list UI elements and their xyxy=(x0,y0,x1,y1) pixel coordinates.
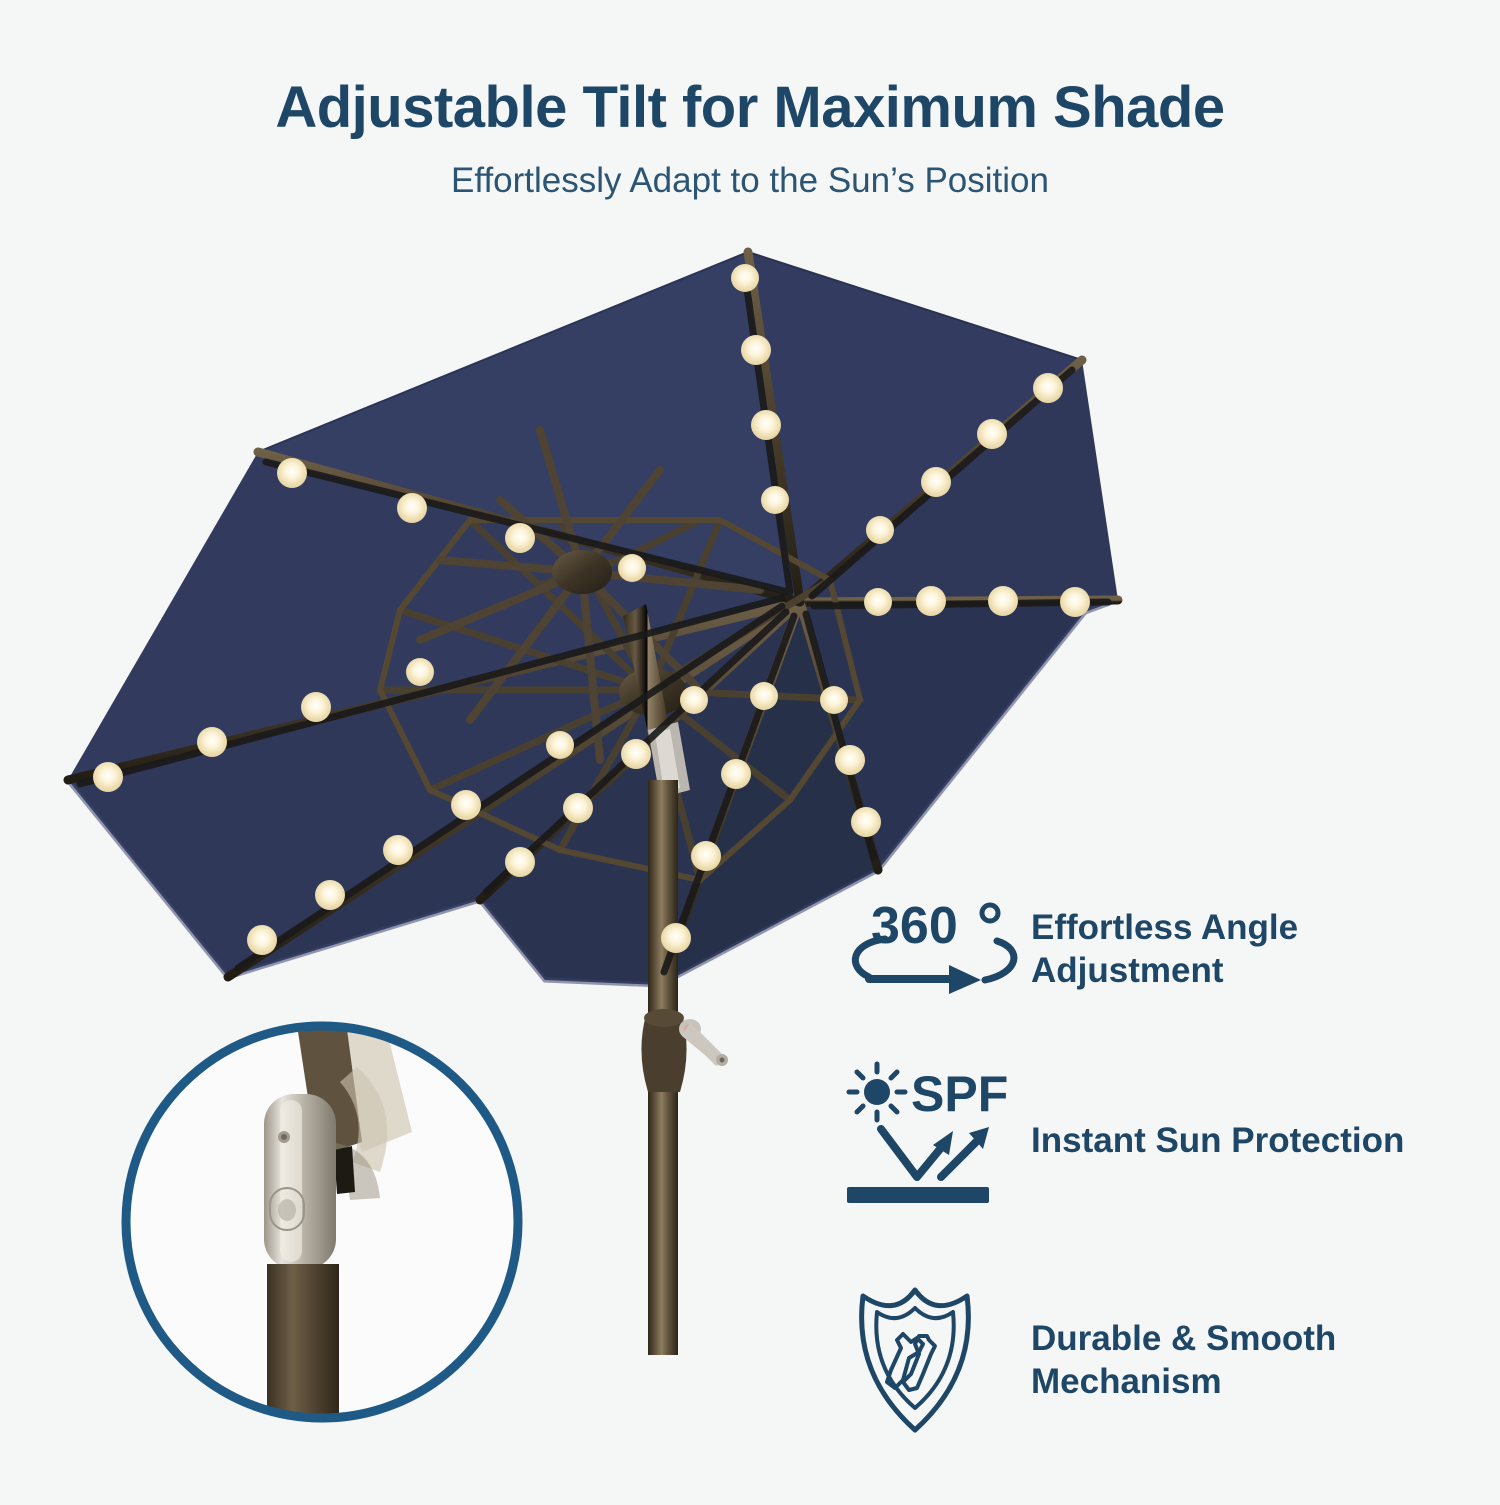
feature-item-durable-mechanism: Durable & Smooth Mechanism xyxy=(845,1273,1485,1448)
feature-label-angle-adjustment: Effortless Angle Adjustment xyxy=(1025,907,1298,992)
feature-label-durable-mechanism: Durable & Smooth Mechanism xyxy=(1025,1318,1336,1403)
svg-text:SPF: SPF xyxy=(911,1066,1008,1122)
canopy xyxy=(68,252,1118,985)
feature-list: 360 Effortless Angle Adjustment xyxy=(845,890,1485,1448)
feature-label-line1: Durable & Smooth xyxy=(1031,1318,1336,1361)
infographic-page: Adjustable Tilt for Maximum Shade Effort… xyxy=(0,0,1500,1500)
upper-hub xyxy=(552,550,612,594)
feature-label-line2: Adjustment xyxy=(1031,950,1298,993)
tilt-mechanism-inset xyxy=(112,1012,532,1432)
svg-text:360: 360 xyxy=(871,897,958,955)
feature-item-angle-adjustment: 360 Effortless Angle Adjustment xyxy=(845,890,1485,1010)
feature-label-sun-protection: Instant Sun Protection xyxy=(1025,1120,1404,1163)
spf-sun-protection-icon: SPF xyxy=(845,1059,1025,1224)
feature-label-line1: Effortless Angle xyxy=(1031,907,1298,950)
crank-housing xyxy=(641,1009,686,1092)
feature-label-line2: Mechanism xyxy=(1031,1361,1336,1404)
shield-wrench-icon xyxy=(845,1278,1025,1443)
feature-label-line1: Instant Sun Protection xyxy=(1031,1120,1404,1163)
feature-item-sun-protection: SPF Instant Sun Protection xyxy=(845,1054,1485,1229)
360-rotation-icon: 360 xyxy=(845,895,1025,1005)
